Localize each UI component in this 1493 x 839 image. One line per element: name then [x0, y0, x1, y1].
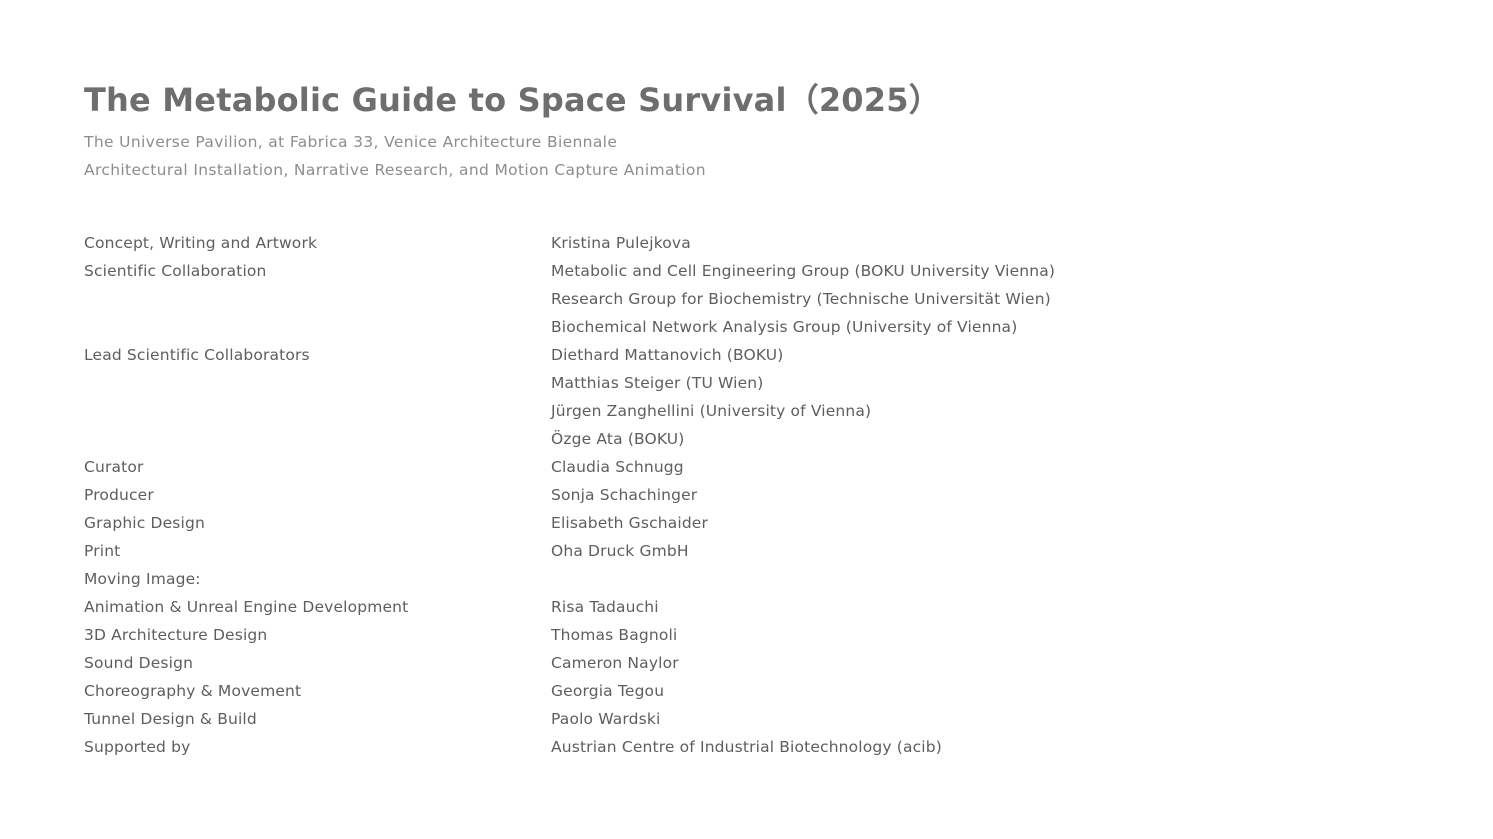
- credit-contributor-value: Biochemical Network Analysis Group (Univ…: [551, 313, 1414, 341]
- credit-row: Animation & Unreal Engine DevelopmentRis…: [84, 593, 1414, 621]
- credit-row: Jürgen Zanghellini (University of Vienna…: [84, 397, 1414, 425]
- credit-contributor-value: Sonja Schachinger: [551, 481, 1414, 509]
- credit-contributor-value: Claudia Schnugg: [551, 453, 1414, 481]
- credit-role-label: Producer: [84, 481, 551, 509]
- credit-row: Matthias Steiger (TU Wien): [84, 369, 1414, 397]
- credit-contributor-value: Oha Druck GmbH: [551, 537, 1414, 565]
- credit-contributor-value: Matthias Steiger (TU Wien): [551, 369, 1414, 397]
- credit-role-label: Tunnel Design & Build: [84, 705, 551, 733]
- credit-row: Biochemical Network Analysis Group (Univ…: [84, 313, 1414, 341]
- credit-row: Concept, Writing and ArtworkKristina Pul…: [84, 229, 1414, 257]
- credit-role-label: Scientific Collaboration: [84, 257, 551, 285]
- credit-row: Tunnel Design & BuildPaolo Wardski: [84, 705, 1414, 733]
- credit-row: Moving Image:: [84, 565, 1414, 593]
- credit-role-label: Concept, Writing and Artwork: [84, 229, 551, 257]
- credit-role-label: Lead Scientific Collaborators: [84, 341, 551, 369]
- credit-role-label: Moving Image:: [84, 565, 551, 593]
- credit-row: Graphic DesignElisabeth Gschaider: [84, 509, 1414, 537]
- credit-row: PrintOha Druck GmbH: [84, 537, 1414, 565]
- credit-row: Supported byAustrian Centre of Industria…: [84, 733, 1414, 761]
- credit-row: ProducerSonja Schachinger: [84, 481, 1414, 509]
- credit-row: Sound DesignCameron Naylor: [84, 649, 1414, 677]
- credit-contributor-value: Georgia Tegou: [551, 677, 1414, 705]
- credit-role-label: Sound Design: [84, 649, 551, 677]
- subtitle-block: The Universe Pavilion, at Fabrica 33, Ve…: [84, 128, 1404, 184]
- credit-role-label: Supported by: [84, 733, 551, 761]
- page-title: The Metabolic Guide to Space Survival（20…: [84, 82, 1404, 119]
- page-header: The Metabolic Guide to Space Survival（20…: [84, 82, 1404, 184]
- credit-contributor-value: Kristina Pulejkova: [551, 229, 1414, 257]
- credit-row: Research Group for Biochemistry (Technis…: [84, 285, 1414, 313]
- credit-contributor-value: Risa Tadauchi: [551, 593, 1414, 621]
- credit-row: Choreography & MovementGeorgia Tegou: [84, 677, 1414, 705]
- credit-contributor-value: Diethard Mattanovich (BOKU): [551, 341, 1414, 369]
- credit-role-label: 3D Architecture Design: [84, 621, 551, 649]
- credit-role-label: Curator: [84, 453, 551, 481]
- credit-contributor-value: Elisabeth Gschaider: [551, 509, 1414, 537]
- credit-role-label: Graphic Design: [84, 509, 551, 537]
- credit-row: Özge Ata (BOKU): [84, 425, 1414, 453]
- credit-row: Lead Scientific CollaboratorsDiethard Ma…: [84, 341, 1414, 369]
- credit-contributor-value: Jürgen Zanghellini (University of Vienna…: [551, 397, 1414, 425]
- credit-contributor-value: Austrian Centre of Industrial Biotechnol…: [551, 733, 1414, 761]
- credit-row: 3D Architecture DesignThomas Bagnoli: [84, 621, 1414, 649]
- credit-row: CuratorClaudia Schnugg: [84, 453, 1414, 481]
- credit-role-label: Animation & Unreal Engine Development: [84, 593, 551, 621]
- subtitle-line-disciplines: Architectural Installation, Narrative Re…: [84, 156, 1404, 184]
- subtitle-line-venue: The Universe Pavilion, at Fabrica 33, Ve…: [84, 128, 1404, 156]
- credit-contributor-value: Paolo Wardski: [551, 705, 1414, 733]
- credit-row: Scientific CollaborationMetabolic and Ce…: [84, 257, 1414, 285]
- credit-role-label: Choreography & Movement: [84, 677, 551, 705]
- credits-list: Concept, Writing and ArtworkKristina Pul…: [84, 229, 1414, 761]
- credit-contributor-value: Metabolic and Cell Engineering Group (BO…: [551, 257, 1414, 285]
- credit-contributor-value: Özge Ata (BOKU): [551, 425, 1414, 453]
- credit-contributor-value: Thomas Bagnoli: [551, 621, 1414, 649]
- credit-contributor-value: Cameron Naylor: [551, 649, 1414, 677]
- credit-contributor-value: Research Group for Biochemistry (Technis…: [551, 285, 1414, 313]
- credits-page: The Metabolic Guide to Space Survival（20…: [0, 0, 1493, 839]
- credit-role-label: Print: [84, 537, 551, 565]
